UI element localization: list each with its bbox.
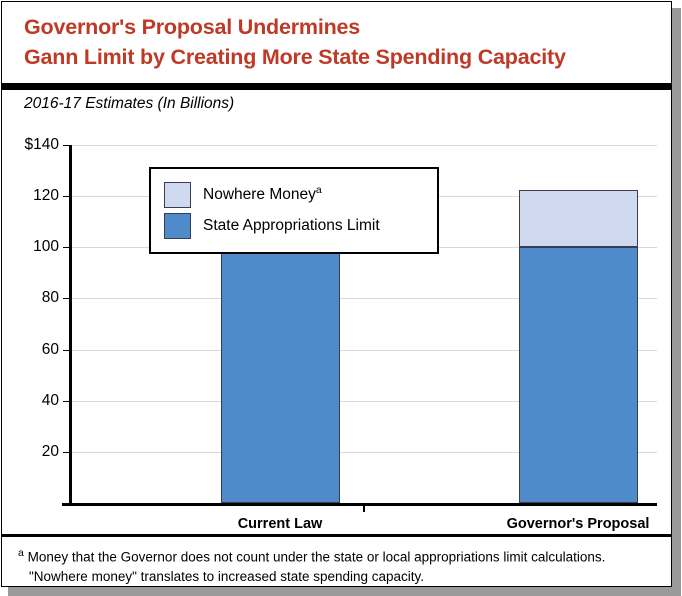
y-axis-label-40: 40	[42, 392, 59, 410]
title-block: Governor's Proposal Undermines Gann Limi…	[2, 2, 671, 83]
x-axis-label-1: Governor's Proposal	[507, 516, 650, 532]
title-divider	[2, 83, 671, 90]
chart-subtitle: 2016-17 Estimates (In Billions)	[24, 95, 234, 113]
legend-item-nowhere-money: Nowhere Moneya	[164, 179, 437, 210]
y-axis-label-100: 100	[33, 238, 59, 256]
y-axis-label-60: 60	[42, 341, 59, 359]
legend-label-state-appropriations-limit: State Appropriations Limit	[203, 217, 380, 235]
x-axis-line	[62, 503, 657, 506]
footnote-text-1: Money that the Governor does not count u…	[28, 550, 606, 565]
bar-segment-1-1[interactable]	[519, 190, 638, 248]
legend-swatch-icon-nowhere-money	[164, 182, 191, 208]
y-axis-label-140: $140	[25, 136, 59, 154]
footnote-line-1: a Money that the Governor does not count…	[18, 544, 658, 567]
y-axis-label-20: 20	[42, 443, 59, 461]
legend-item-state-appropriations-limit: State Appropriations Limit	[164, 210, 437, 241]
legend-label-nowhere-money: Nowhere Moneya	[203, 184, 322, 204]
footnote-marker: a	[18, 547, 24, 559]
plot-wrapper: $14012010080604020 Current LawGovernor's…	[2, 122, 671, 534]
footnote-line-2: "Nowhere money" translates to increased …	[18, 567, 658, 586]
footnote: a Money that the Governor does not count…	[18, 544, 658, 586]
plot-area: $14012010080604020 Current LawGovernor's…	[70, 145, 657, 503]
chart-figure: Governor's Proposal Undermines Gann Limi…	[1, 1, 672, 587]
page-title-line-2: Gann Limit by Creating More State Spendi…	[24, 45, 566, 70]
y-axis-line	[69, 145, 72, 504]
legend-swatch-icon-state-appropriations-limit	[164, 213, 191, 239]
x-axis-label-0: Current Law	[238, 516, 323, 532]
bar-group-1[interactable]	[519, 145, 638, 503]
bar-segment-1-0[interactable]	[519, 247, 638, 503]
footnote-divider	[2, 534, 671, 537]
bar-segment-0-0[interactable]	[221, 247, 340, 503]
y-axis-label-80: 80	[42, 289, 59, 307]
page-title-line-1: Governor's Proposal Undermines	[24, 15, 360, 40]
y-axis-label-120: 120	[33, 187, 59, 205]
x-axis-center-tick	[363, 503, 365, 512]
legend-superscript-marker: a	[316, 184, 322, 196]
chart-legend: Nowhere Moneya State Appropriations Limi…	[149, 167, 439, 254]
